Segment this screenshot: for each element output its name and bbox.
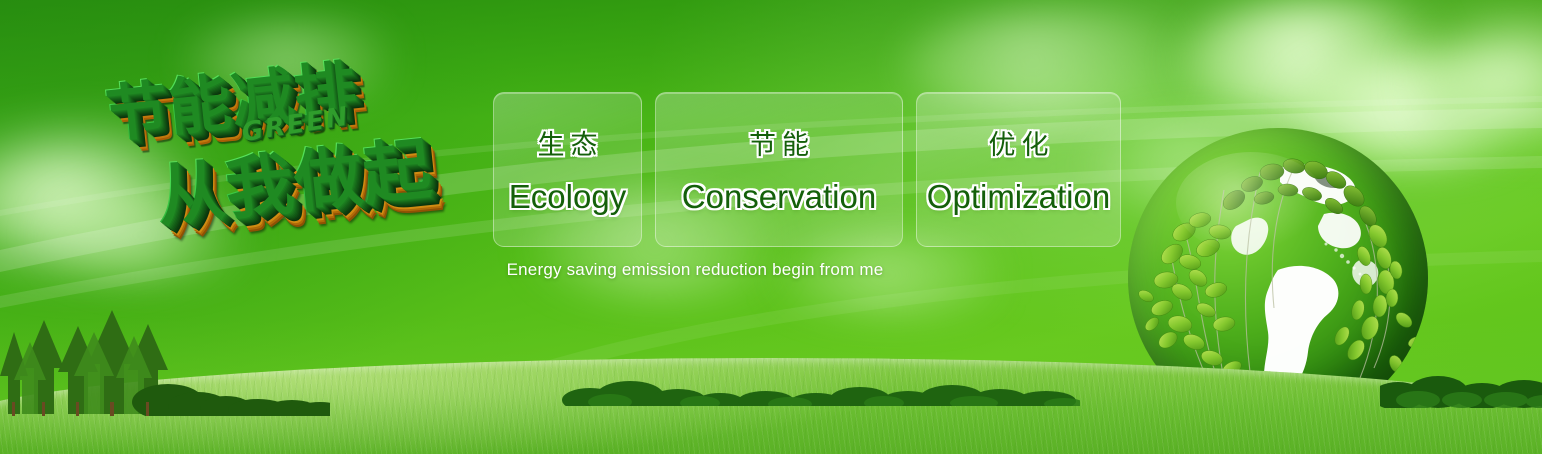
feature-card-list: 生态 Ecology 节能 Conservation 优化 Optimizati…	[493, 92, 1121, 247]
card-title-en: Optimization	[927, 178, 1110, 216]
card-title-cn: 优化	[983, 123, 1055, 162]
card-title-cn: 生态	[532, 123, 604, 162]
campaign-logo: 节能减排 GREEN 从我做起	[85, 18, 506, 284]
eco-banner: 节能减排 GREEN 从我做起 生态 Ecology 节能 Conservati…	[0, 0, 1542, 454]
feature-card-ecology[interactable]: 生态 Ecology	[493, 92, 642, 247]
banner-tagline: Energy saving emission reduction begin f…	[493, 260, 897, 280]
card-title-en: Ecology	[509, 178, 626, 216]
feature-card-conservation[interactable]: 节能 Conservation	[655, 92, 903, 247]
card-title-cn: 节能	[743, 123, 815, 162]
feature-card-optimization[interactable]: 优化 Optimization	[916, 92, 1121, 247]
card-title-en: Conservation	[682, 178, 876, 216]
